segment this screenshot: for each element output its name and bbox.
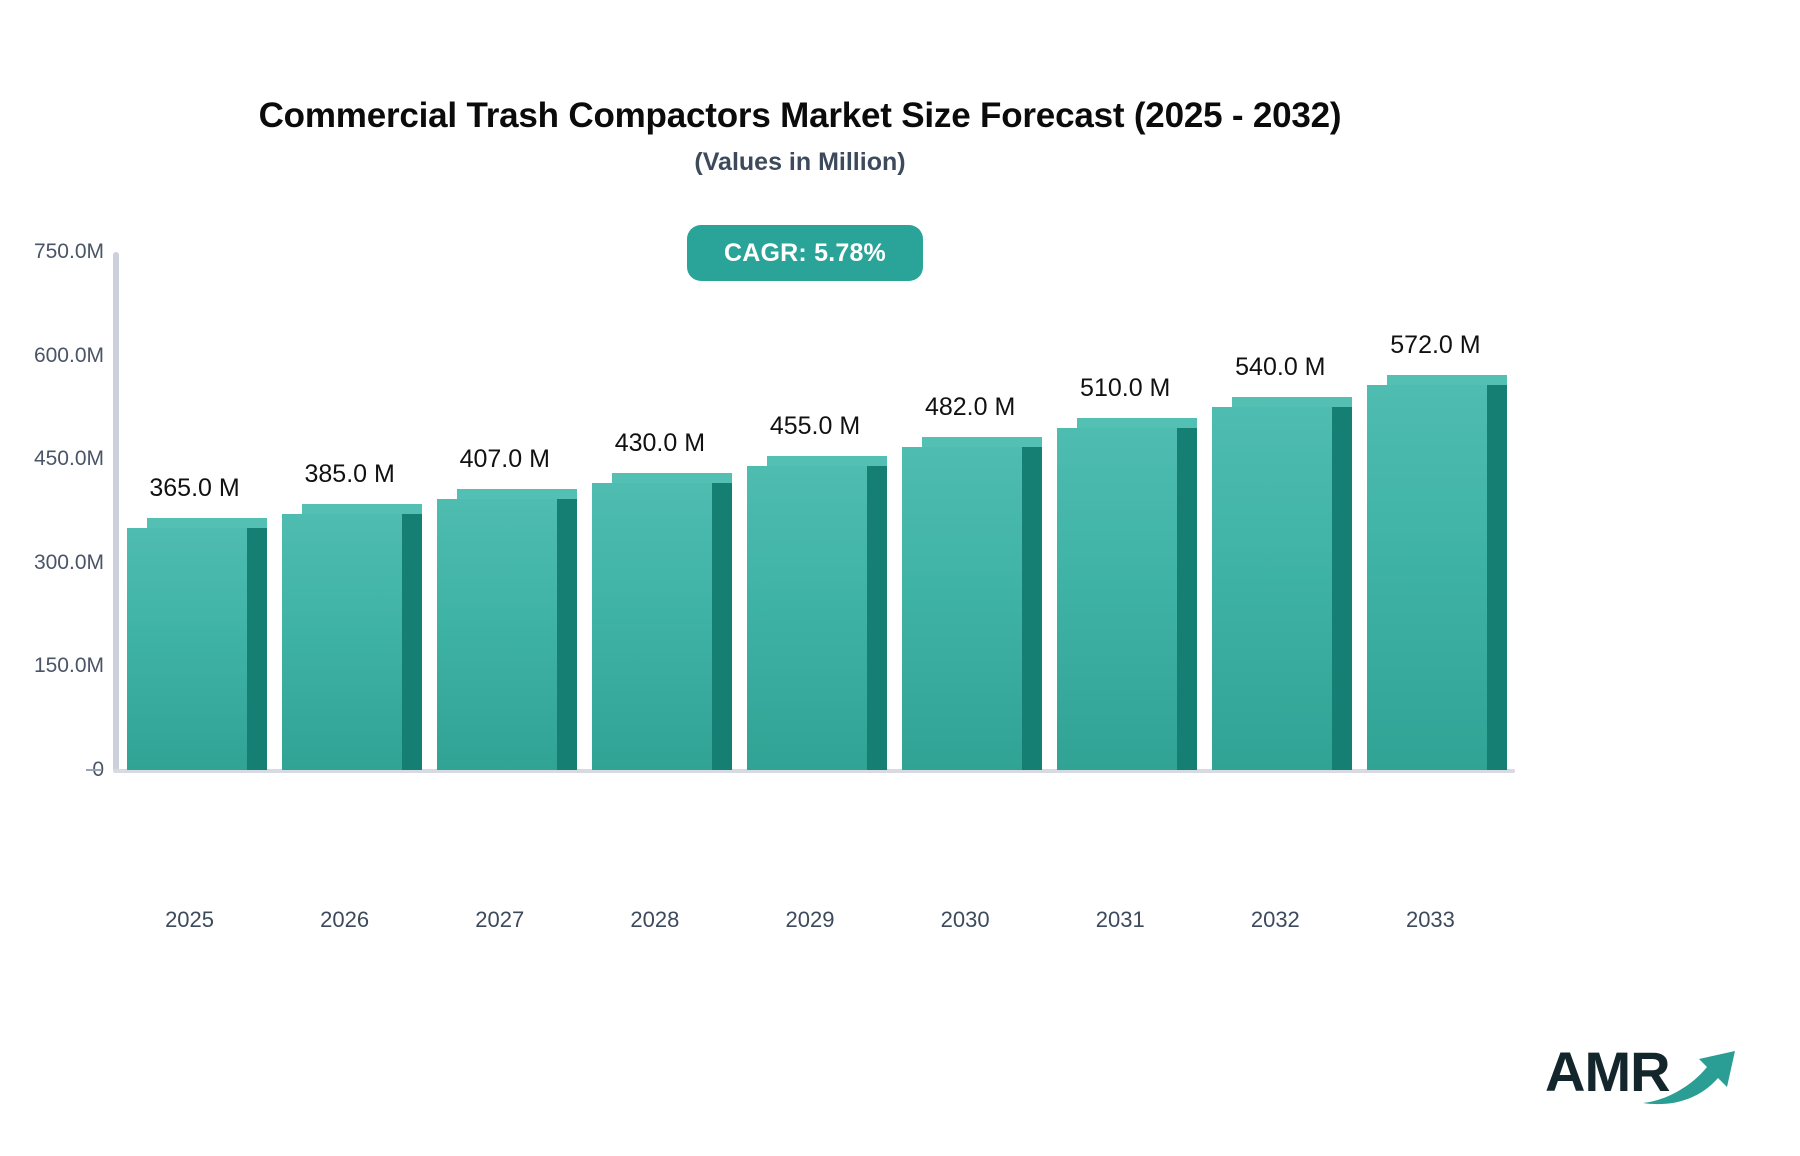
bar-2031[interactable] xyxy=(1057,418,1197,770)
bar-2032[interactable] xyxy=(1212,397,1352,770)
bar-front-face xyxy=(592,483,712,770)
bar-top-face xyxy=(302,504,422,514)
bar-top-face xyxy=(612,473,732,483)
bar-value-label: 572.0 M xyxy=(1390,331,1480,360)
bar-top-face xyxy=(767,456,887,466)
bar-front-face xyxy=(1367,385,1487,770)
x-axis-tick-label: 2026 xyxy=(320,907,369,933)
bar-top-face xyxy=(457,489,577,499)
bar-side-face xyxy=(1332,407,1352,770)
bar-2026[interactable] xyxy=(282,504,422,770)
bar-value-label: 407.0 M xyxy=(460,445,550,474)
x-axis-tick-label: 2030 xyxy=(941,907,990,933)
bar-top-face xyxy=(147,518,267,528)
plot-area: 750.0M600.0M450.0M300.0M150.0M0 365.0 M3… xyxy=(0,0,1800,1156)
x-axis-tick-label: 2029 xyxy=(786,907,835,933)
bar-value-label: 510.0 M xyxy=(1080,374,1170,403)
bar-value-label: 385.0 M xyxy=(304,460,394,489)
x-axis-tick-label: 2028 xyxy=(630,907,679,933)
bar-value-label: 455.0 M xyxy=(770,412,860,441)
bar-value-label: 482.0 M xyxy=(925,393,1015,422)
bar-2028[interactable] xyxy=(592,473,732,770)
bar-2025[interactable] xyxy=(127,518,267,770)
bar-2027[interactable] xyxy=(437,489,577,770)
bar-front-face xyxy=(747,466,867,770)
chart-canvas: Commercial Trash Compactors Market Size … xyxy=(0,0,1800,1156)
amr-logo: AMR xyxy=(1545,1035,1735,1113)
y-axis-tick-label: 300.0M xyxy=(4,551,104,575)
bar-front-face xyxy=(902,447,1022,770)
y-axis-tick-label: 600.0M xyxy=(4,344,104,368)
y-axis-line xyxy=(113,252,119,772)
x-axis-tick-label: 2033 xyxy=(1406,907,1455,933)
bar-side-face xyxy=(867,466,887,770)
bar-front-face xyxy=(1212,407,1332,770)
bar-value-label: 365.0 M xyxy=(149,474,239,503)
bar-value-label: 540.0 M xyxy=(1235,353,1325,382)
x-axis-tick-label: 2025 xyxy=(165,907,214,933)
bar-front-face xyxy=(282,514,402,770)
bar-2030[interactable] xyxy=(902,437,1042,770)
growth-arrow-icon xyxy=(1641,1045,1741,1107)
bar-side-face xyxy=(712,483,732,770)
y-axis-tick-label: 150.0M xyxy=(4,654,104,678)
bar-side-face xyxy=(1022,447,1042,770)
bar-value-label: 430.0 M xyxy=(615,429,705,458)
bar-2033[interactable] xyxy=(1367,375,1507,770)
bar-front-face xyxy=(127,528,247,770)
y-axis-tick-mark xyxy=(86,769,102,771)
bar-top-face xyxy=(1232,397,1352,407)
y-axis-tick-label: 450.0M xyxy=(4,447,104,471)
bar-side-face xyxy=(247,528,267,770)
bar-side-face xyxy=(1487,385,1507,770)
bar-side-face xyxy=(1177,428,1197,770)
bar-top-face xyxy=(1387,375,1507,385)
x-axis-tick-label: 2031 xyxy=(1096,907,1145,933)
bar-top-face xyxy=(922,437,1042,447)
bar-front-face xyxy=(437,499,557,770)
bar-front-face xyxy=(1057,428,1177,770)
bar-top-face xyxy=(1077,418,1197,428)
y-axis-tick-group: 750.0M600.0M450.0M300.0M150.0M0 xyxy=(0,0,104,1156)
bar-2029[interactable] xyxy=(747,456,887,770)
bar-side-face xyxy=(557,499,577,770)
x-axis-tick-label: 2032 xyxy=(1251,907,1300,933)
x-axis-tick-label: 2027 xyxy=(475,907,524,933)
bar-side-face xyxy=(402,514,422,770)
y-axis-tick-label: 750.0M xyxy=(4,240,104,264)
